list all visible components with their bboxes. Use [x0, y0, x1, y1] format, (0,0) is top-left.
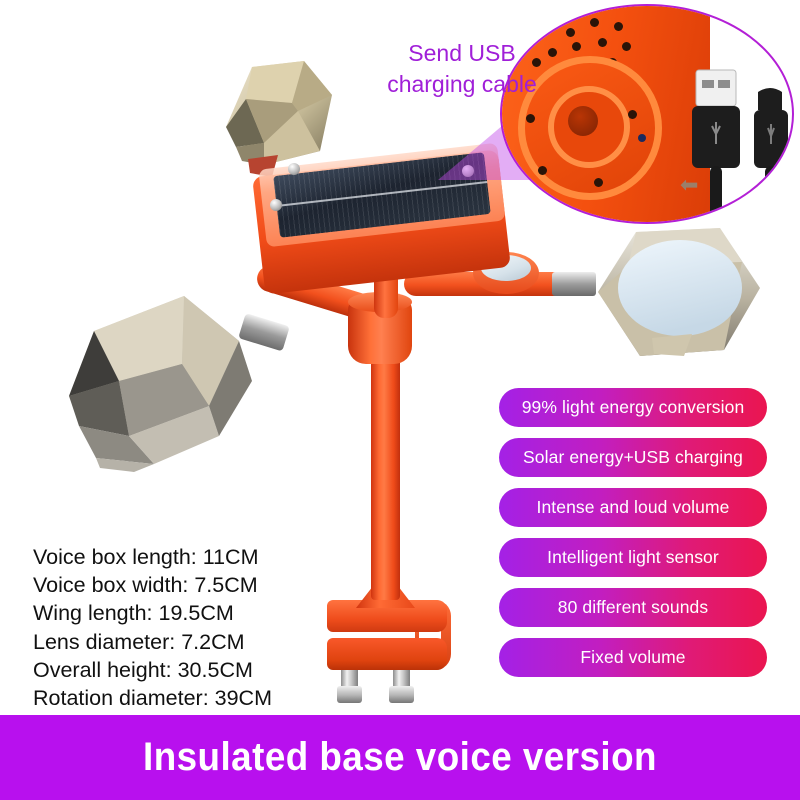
feature-pill: 80 different sounds	[499, 588, 767, 627]
grille-dot	[614, 22, 623, 31]
feature-list: 99% light energy conversion Solar energy…	[499, 388, 767, 688]
solar-screw-left	[270, 199, 282, 211]
grille-dot	[628, 110, 637, 119]
clamp-bolt-head-left	[337, 686, 362, 703]
grille-dot	[526, 114, 535, 123]
spec-item: Voice box width: 7.5CM	[33, 571, 272, 599]
bottom-banner: Insulated base voice version	[0, 715, 800, 800]
indicator-led	[638, 134, 646, 142]
callout-line-1: Send USB	[372, 38, 552, 69]
banner-title: Insulated base voice version	[32, 715, 768, 800]
feature-pill: Intelligent light sensor	[499, 538, 767, 577]
callout-text: Send USB charging cable	[372, 38, 552, 100]
grille-dot	[572, 42, 581, 51]
feature-pill: Fixed volume	[499, 638, 767, 677]
speaker-center	[568, 106, 598, 136]
feature-pill: Solar energy+USB charging	[499, 438, 767, 477]
grille-dot	[594, 178, 603, 187]
specifications-list: Voice box length: 11CM Voice box width: …	[33, 543, 272, 712]
solar-screw-top	[288, 163, 300, 175]
grille-dot	[622, 42, 631, 51]
grille-dot	[598, 38, 607, 47]
callout-line-2: charging cable	[372, 69, 552, 100]
reflector-right-hex-lens	[592, 226, 764, 362]
grille-dot	[566, 28, 575, 37]
usb-cable	[682, 66, 792, 216]
grille-dot	[538, 166, 547, 175]
spec-item: Voice box length: 11CM	[33, 543, 272, 571]
product-infographic: ⬅ Send	[0, 0, 800, 800]
grille-dot	[590, 18, 599, 27]
usb-detail-inset: ⬅	[500, 4, 794, 224]
feature-pill: 99% light energy conversion	[499, 388, 767, 427]
spec-item: Rotation diameter: 39CM	[33, 684, 272, 712]
spec-item: Wing length: 19.5CM	[33, 599, 272, 627]
feature-pill: Intense and loud volume	[499, 488, 767, 527]
ferrule-right	[552, 272, 596, 296]
clamp-lower-jaw	[327, 638, 447, 670]
spec-item: Lens diameter: 7.2CM	[33, 628, 272, 656]
clamp-bolt-head-right	[389, 686, 414, 703]
spec-item: Overall height: 30.5CM	[33, 656, 272, 684]
